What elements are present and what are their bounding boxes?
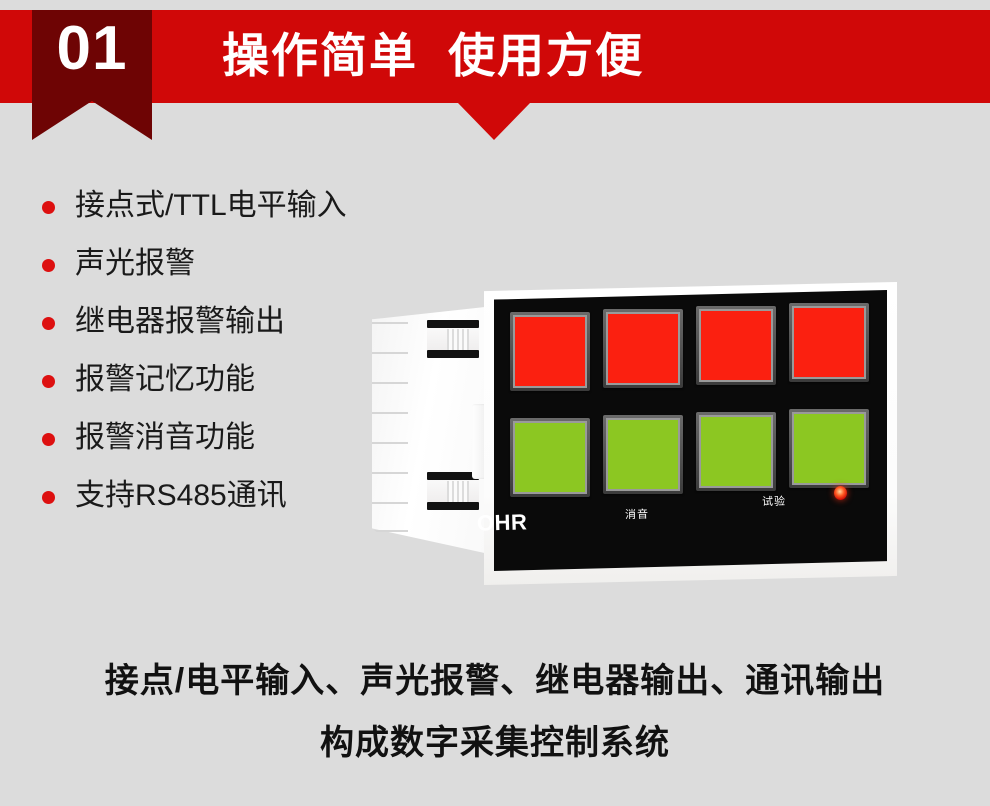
alarm-panel-green-1[interactable] bbox=[510, 418, 590, 497]
feature-label: 继电器报警输出 bbox=[75, 300, 285, 344]
alarm-panel-lens bbox=[606, 418, 680, 491]
alarm-panel-lens bbox=[699, 309, 773, 382]
bullet-dot-icon bbox=[42, 433, 55, 446]
section-number-ribbon: 01 bbox=[32, 10, 152, 140]
mounting-clip-top bbox=[427, 320, 479, 358]
bullet-dot-icon bbox=[42, 317, 55, 330]
alarm-panel-lens bbox=[513, 421, 587, 494]
alarm-panel-green-3[interactable] bbox=[696, 412, 776, 491]
alarm-panel-lens bbox=[792, 306, 866, 379]
promo-page: 01 操作简单 使用方便 接点式/TTL电平输入 声光报警 继电器报警输出 报警… bbox=[0, 0, 990, 806]
alarm-panel-green-4[interactable] bbox=[789, 409, 869, 488]
brand-logo: OHR bbox=[477, 509, 528, 536]
caption-block: 接点/电平输入、声光报警、继电器输出、通讯输出 构成数字采集控制系统 bbox=[0, 650, 990, 774]
alarm-panel-green-2[interactable] bbox=[603, 415, 683, 494]
alarm-panel-red-1[interactable] bbox=[510, 312, 590, 391]
device-housing-fins bbox=[372, 304, 408, 559]
caption-line-2: 构成数字采集控制系统 bbox=[0, 712, 990, 774]
alarm-panel-red-2[interactable] bbox=[603, 309, 683, 388]
alarm-panel-lens bbox=[699, 415, 773, 488]
feature-label: 声光报警 bbox=[75, 242, 195, 286]
alarm-panel-lens bbox=[606, 312, 680, 385]
feature-label: 报警记忆功能 bbox=[75, 358, 255, 402]
header-notch-triangle bbox=[458, 103, 530, 140]
bullet-dot-icon bbox=[42, 491, 55, 504]
section-number: 01 bbox=[32, 18, 152, 80]
list-item: 接点式/TTL电平输入 bbox=[38, 182, 438, 240]
alarm-panel-red-3[interactable] bbox=[696, 306, 776, 385]
mounting-clip-bottom bbox=[427, 472, 479, 510]
alarm-panel-red-4[interactable] bbox=[789, 303, 869, 382]
caption-line-1: 接点/电平输入、声光报警、继电器输出、通讯输出 bbox=[0, 650, 990, 712]
alarm-panel-lens bbox=[513, 315, 587, 388]
feature-label: 报警消音功能 bbox=[75, 416, 255, 460]
alarm-panel-grid bbox=[510, 308, 870, 516]
product-device-image: OHR 消音 试验 bbox=[372, 282, 897, 587]
device-button-label-test[interactable]: 试验 bbox=[762, 493, 786, 510]
page-title: 操作简单 使用方便 bbox=[222, 20, 644, 92]
bullet-dot-icon bbox=[42, 375, 55, 388]
feature-label: 支持RS485通讯 bbox=[75, 474, 287, 518]
bullet-dot-icon bbox=[42, 259, 55, 272]
feature-label: 接点式/TTL电平输入 bbox=[75, 184, 347, 228]
power-led-indicator-icon bbox=[834, 486, 847, 500]
bullet-dot-icon bbox=[42, 201, 55, 214]
device-button-label-mute[interactable]: 消音 bbox=[625, 506, 649, 523]
alarm-panel-lens bbox=[792, 412, 866, 485]
